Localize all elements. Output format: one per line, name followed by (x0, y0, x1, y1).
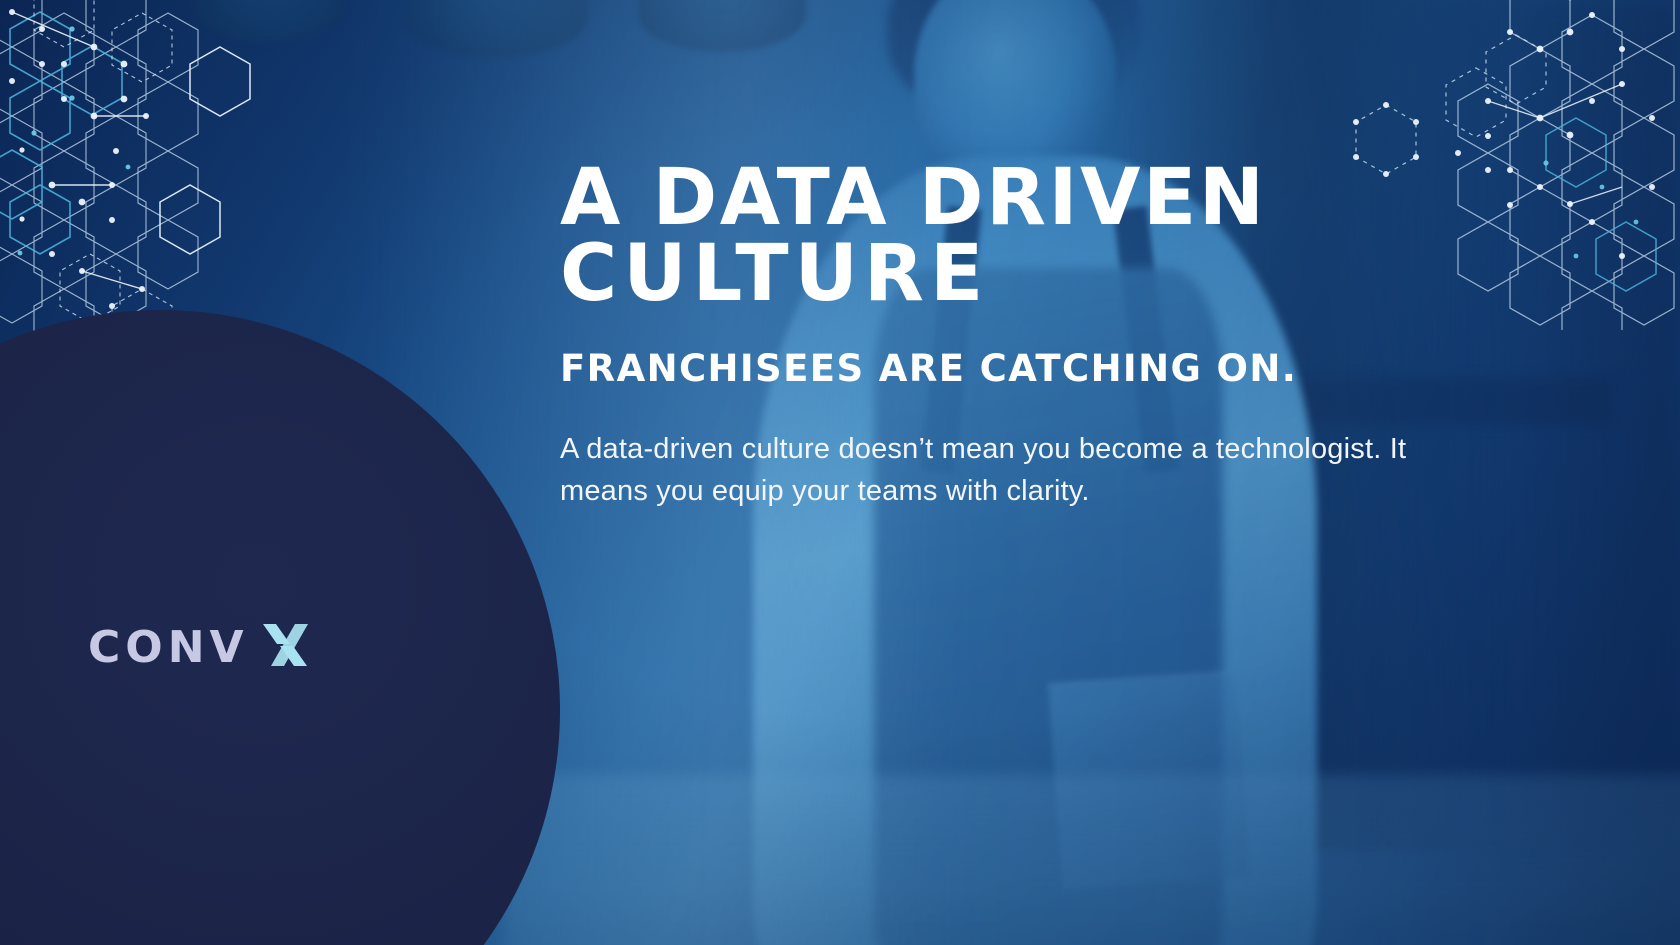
hero-text-block: A DATA DRIVEN CULTURE FRANCHISEES ARE CA… (560, 160, 1460, 512)
logo-x-icon (259, 620, 311, 675)
convx-logo: CONV (88, 620, 311, 675)
body-paragraph: A data-driven culture doesn’t mean you b… (560, 428, 1440, 513)
headline-line-2: CULTURE (560, 236, 1460, 312)
page-title: A DATA DRIVEN CULTURE (560, 160, 1460, 313)
marketing-slide: CONV A DATA DRIVEN CULTURE FRANCHISEES A… (0, 0, 1680, 945)
subheadline: FRANCHISEES ARE CATCHING ON. (560, 349, 1460, 390)
logo-wordmark: CONV (88, 626, 249, 670)
